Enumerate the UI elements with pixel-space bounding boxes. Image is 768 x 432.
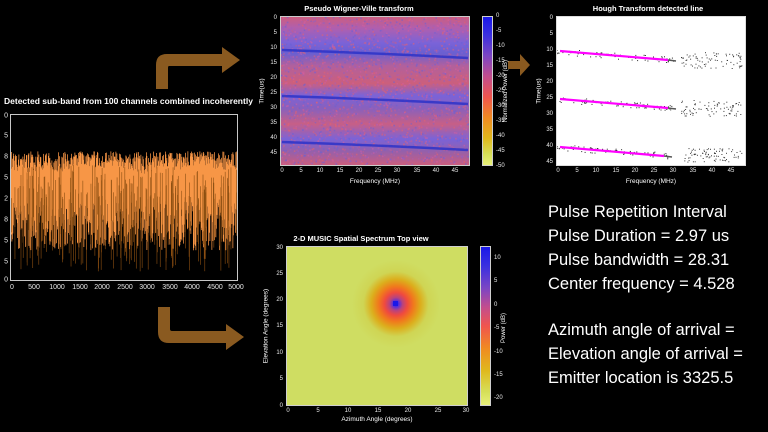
readout-pulse-duration: Pulse Duration = 2.97 us — [548, 224, 768, 248]
ytick: 10 — [270, 45, 277, 51]
xtick: 25 — [435, 408, 442, 414]
cbar-tick: -40 — [496, 133, 505, 139]
ytick: 15 — [270, 60, 277, 66]
cbar-tick: -45 — [496, 148, 505, 154]
xtick: 35 — [414, 168, 421, 174]
axes-frame — [280, 16, 470, 166]
ytick: 25 — [546, 95, 553, 101]
xtick: 4500 — [207, 284, 223, 291]
readout-spacer — [548, 296, 768, 318]
xtick: 1000 — [49, 284, 65, 291]
xtick: 5 — [299, 168, 302, 174]
ytick: 40 — [270, 135, 277, 141]
cbar-tick: 0 — [494, 302, 497, 308]
xtick: 20 — [632, 168, 639, 174]
panel-wigner-ville-title: Pseudo Wigner-Ville transform — [234, 4, 484, 13]
xtick: 2000 — [94, 284, 110, 291]
xtick: 5000 — [228, 284, 244, 291]
ytick: 0 — [4, 277, 8, 284]
xtick: 35 — [690, 168, 697, 174]
readout-pulse-bandwidth: Pulse bandwidth = 28.31 — [548, 248, 768, 272]
xtick: 15 — [337, 168, 344, 174]
ytick: 10 — [546, 47, 553, 53]
panel-hough-transform-title: Hough Transform detected line — [534, 4, 762, 13]
ytick: 5 — [280, 376, 283, 382]
ytick: 45 — [546, 159, 553, 165]
readout-elevation-angle: Elevation angle of arrival = — [548, 342, 768, 366]
elbow-arrow-down-right-icon — [152, 305, 248, 355]
xtick: 1500 — [72, 284, 88, 291]
ytick: 5 — [550, 31, 553, 37]
ytick: 20 — [276, 297, 283, 303]
wigner-ylabel: Time(us) — [259, 78, 266, 103]
cbar-tick: 5 — [494, 278, 497, 284]
xtick: 3500 — [162, 284, 178, 291]
cbar-tick: -5 — [494, 325, 499, 331]
ytick: 0 — [280, 403, 283, 409]
ytick: 5 — [4, 133, 8, 140]
cbar-tick: -5 — [496, 28, 501, 34]
xtick: 5 — [316, 408, 319, 414]
xtick: 10 — [317, 168, 324, 174]
xtick: 10 — [345, 408, 352, 414]
ytick: 15 — [546, 63, 553, 69]
xtick: 15 — [375, 408, 382, 414]
panel-music-spectrum-title: 2-D MUSIC Spatial Spectrum Top view — [236, 234, 486, 243]
music-ylabel: Elevation Angle (degrees) — [263, 289, 270, 363]
wigner-xlabel: Frequency (MHz) — [350, 178, 400, 185]
xtick: 30 — [670, 168, 677, 174]
xtick: 0 — [286, 408, 289, 414]
panel-detected-subband-title: Detected sub-band from 100 channels comb… — [4, 96, 253, 106]
xtick: 25 — [375, 168, 382, 174]
ytick: 30 — [276, 245, 283, 251]
signal-trace — [11, 115, 237, 280]
detected-subband-axes: 0 500 1000 1500 2000 2500 3000 3500 4000… — [10, 114, 238, 281]
wigner-axes: 0 5 10 15 20 25 30 35 40 45 0 5 10 15 20… — [280, 16, 470, 166]
xtick: 500 — [28, 284, 40, 291]
ytick: 5 — [4, 175, 8, 182]
xtick: 25 — [651, 168, 658, 174]
ytick: 8 — [4, 154, 8, 161]
hough-axes: 0 5 10 15 20 25 30 35 40 45 0 5 10 15 20… — [556, 16, 746, 166]
panel-detected-subband: Detected sub-band from 100 channels comb… — [0, 96, 248, 296]
readout-azimuth-angle: Azimuth angle of arrival = — [548, 318, 768, 342]
readout-center-frequency: Center frequency = 4.528 — [548, 272, 768, 296]
ytick: 20 — [270, 75, 277, 81]
xtick: 0 — [280, 168, 283, 174]
wigner-colorbar — [482, 16, 493, 166]
panel-music-spectrum: 2-D MUSIC Spatial Spectrum Top view — [258, 228, 508, 432]
ytick: 25 — [270, 90, 277, 96]
readout-emitter-location: Emitter location is 3325.5 — [548, 366, 768, 390]
ytick: 10 — [276, 350, 283, 356]
signal-trace-svg — [11, 115, 237, 280]
flow-arrow-to-music — [152, 305, 248, 360]
readout-pulse-repetition-interval: Pulse Repetition Interval — [548, 200, 768, 224]
hough-xlabel: Frequency (MHz) — [626, 178, 676, 185]
xtick: 10 — [593, 168, 600, 174]
xtick: 40 — [709, 168, 716, 174]
xtick: 3000 — [139, 284, 155, 291]
hough-ylabel: Time(us) — [536, 78, 543, 103]
ytick: 25 — [276, 271, 283, 277]
ytick: 40 — [546, 143, 553, 149]
xtick: 0 — [10, 284, 14, 291]
flow-arrow-to-hough — [506, 52, 532, 83]
ytick: 45 — [270, 150, 277, 156]
axes-frame — [556, 16, 746, 166]
cbar-tick: 10 — [494, 255, 501, 261]
cbar-tick: -10 — [496, 43, 505, 49]
ytick: 30 — [546, 111, 553, 117]
xtick: 2500 — [117, 284, 133, 291]
ytick: 5 — [4, 259, 8, 266]
xtick: 5 — [575, 168, 578, 174]
cbar-tick: -20 — [494, 395, 503, 401]
cbar-tick: -50 — [496, 163, 505, 169]
wigner-colorbar-label: Normalized Power (dB) — [503, 60, 509, 122]
panel-wigner-ville: Pseudo Wigner-Ville transform — [258, 2, 508, 198]
parameter-readout: Pulse Repetition Interval Pulse Duration… — [548, 200, 768, 390]
panel-hough-transform: Hough Transform detected line 0 5 10 15 … — [534, 2, 768, 198]
xtick: 30 — [394, 168, 401, 174]
music-colorbar — [480, 246, 491, 406]
ytick: 15 — [276, 323, 283, 329]
cbar-tick: -10 — [494, 349, 503, 355]
ytick: 5 — [274, 30, 277, 36]
music-axes: 0 5 10 15 20 25 30 0 5 10 15 20 25 30 El… — [286, 246, 468, 406]
ytick: 2 — [4, 196, 8, 203]
ytick: 5 — [4, 238, 8, 245]
figure-canvas: Detected sub-band from 100 channels comb… — [0, 0, 768, 432]
ytick: 0 — [550, 15, 553, 21]
ytick: 20 — [546, 79, 553, 85]
xtick: 45 — [452, 168, 459, 174]
ytick: 8 — [4, 217, 8, 224]
elbow-arrow-up-right-icon — [150, 45, 242, 91]
xtick: 4000 — [184, 284, 200, 291]
music-xlabel: Azimuth Angle (degrees) — [341, 416, 412, 423]
arrow-right-icon — [506, 52, 532, 78]
flow-arrow-to-wigner — [150, 45, 242, 96]
cbar-tick: 0 — [496, 13, 499, 19]
ytick: 35 — [270, 120, 277, 126]
xtick: 20 — [356, 168, 363, 174]
xtick: 40 — [433, 168, 440, 174]
ytick: 30 — [270, 105, 277, 111]
music-colorbar-label: Power (dB) — [501, 313, 507, 343]
xtick: 15 — [613, 168, 620, 174]
xtick: 0 — [556, 168, 559, 174]
ytick: 0 — [4, 113, 8, 120]
ytick: 35 — [546, 127, 553, 133]
xtick: 45 — [728, 168, 735, 174]
ytick: 0 — [274, 15, 277, 21]
cbar-tick: -15 — [494, 372, 503, 378]
xtick: 20 — [405, 408, 412, 414]
axes-frame — [286, 246, 468, 406]
xtick: 30 — [463, 408, 470, 414]
